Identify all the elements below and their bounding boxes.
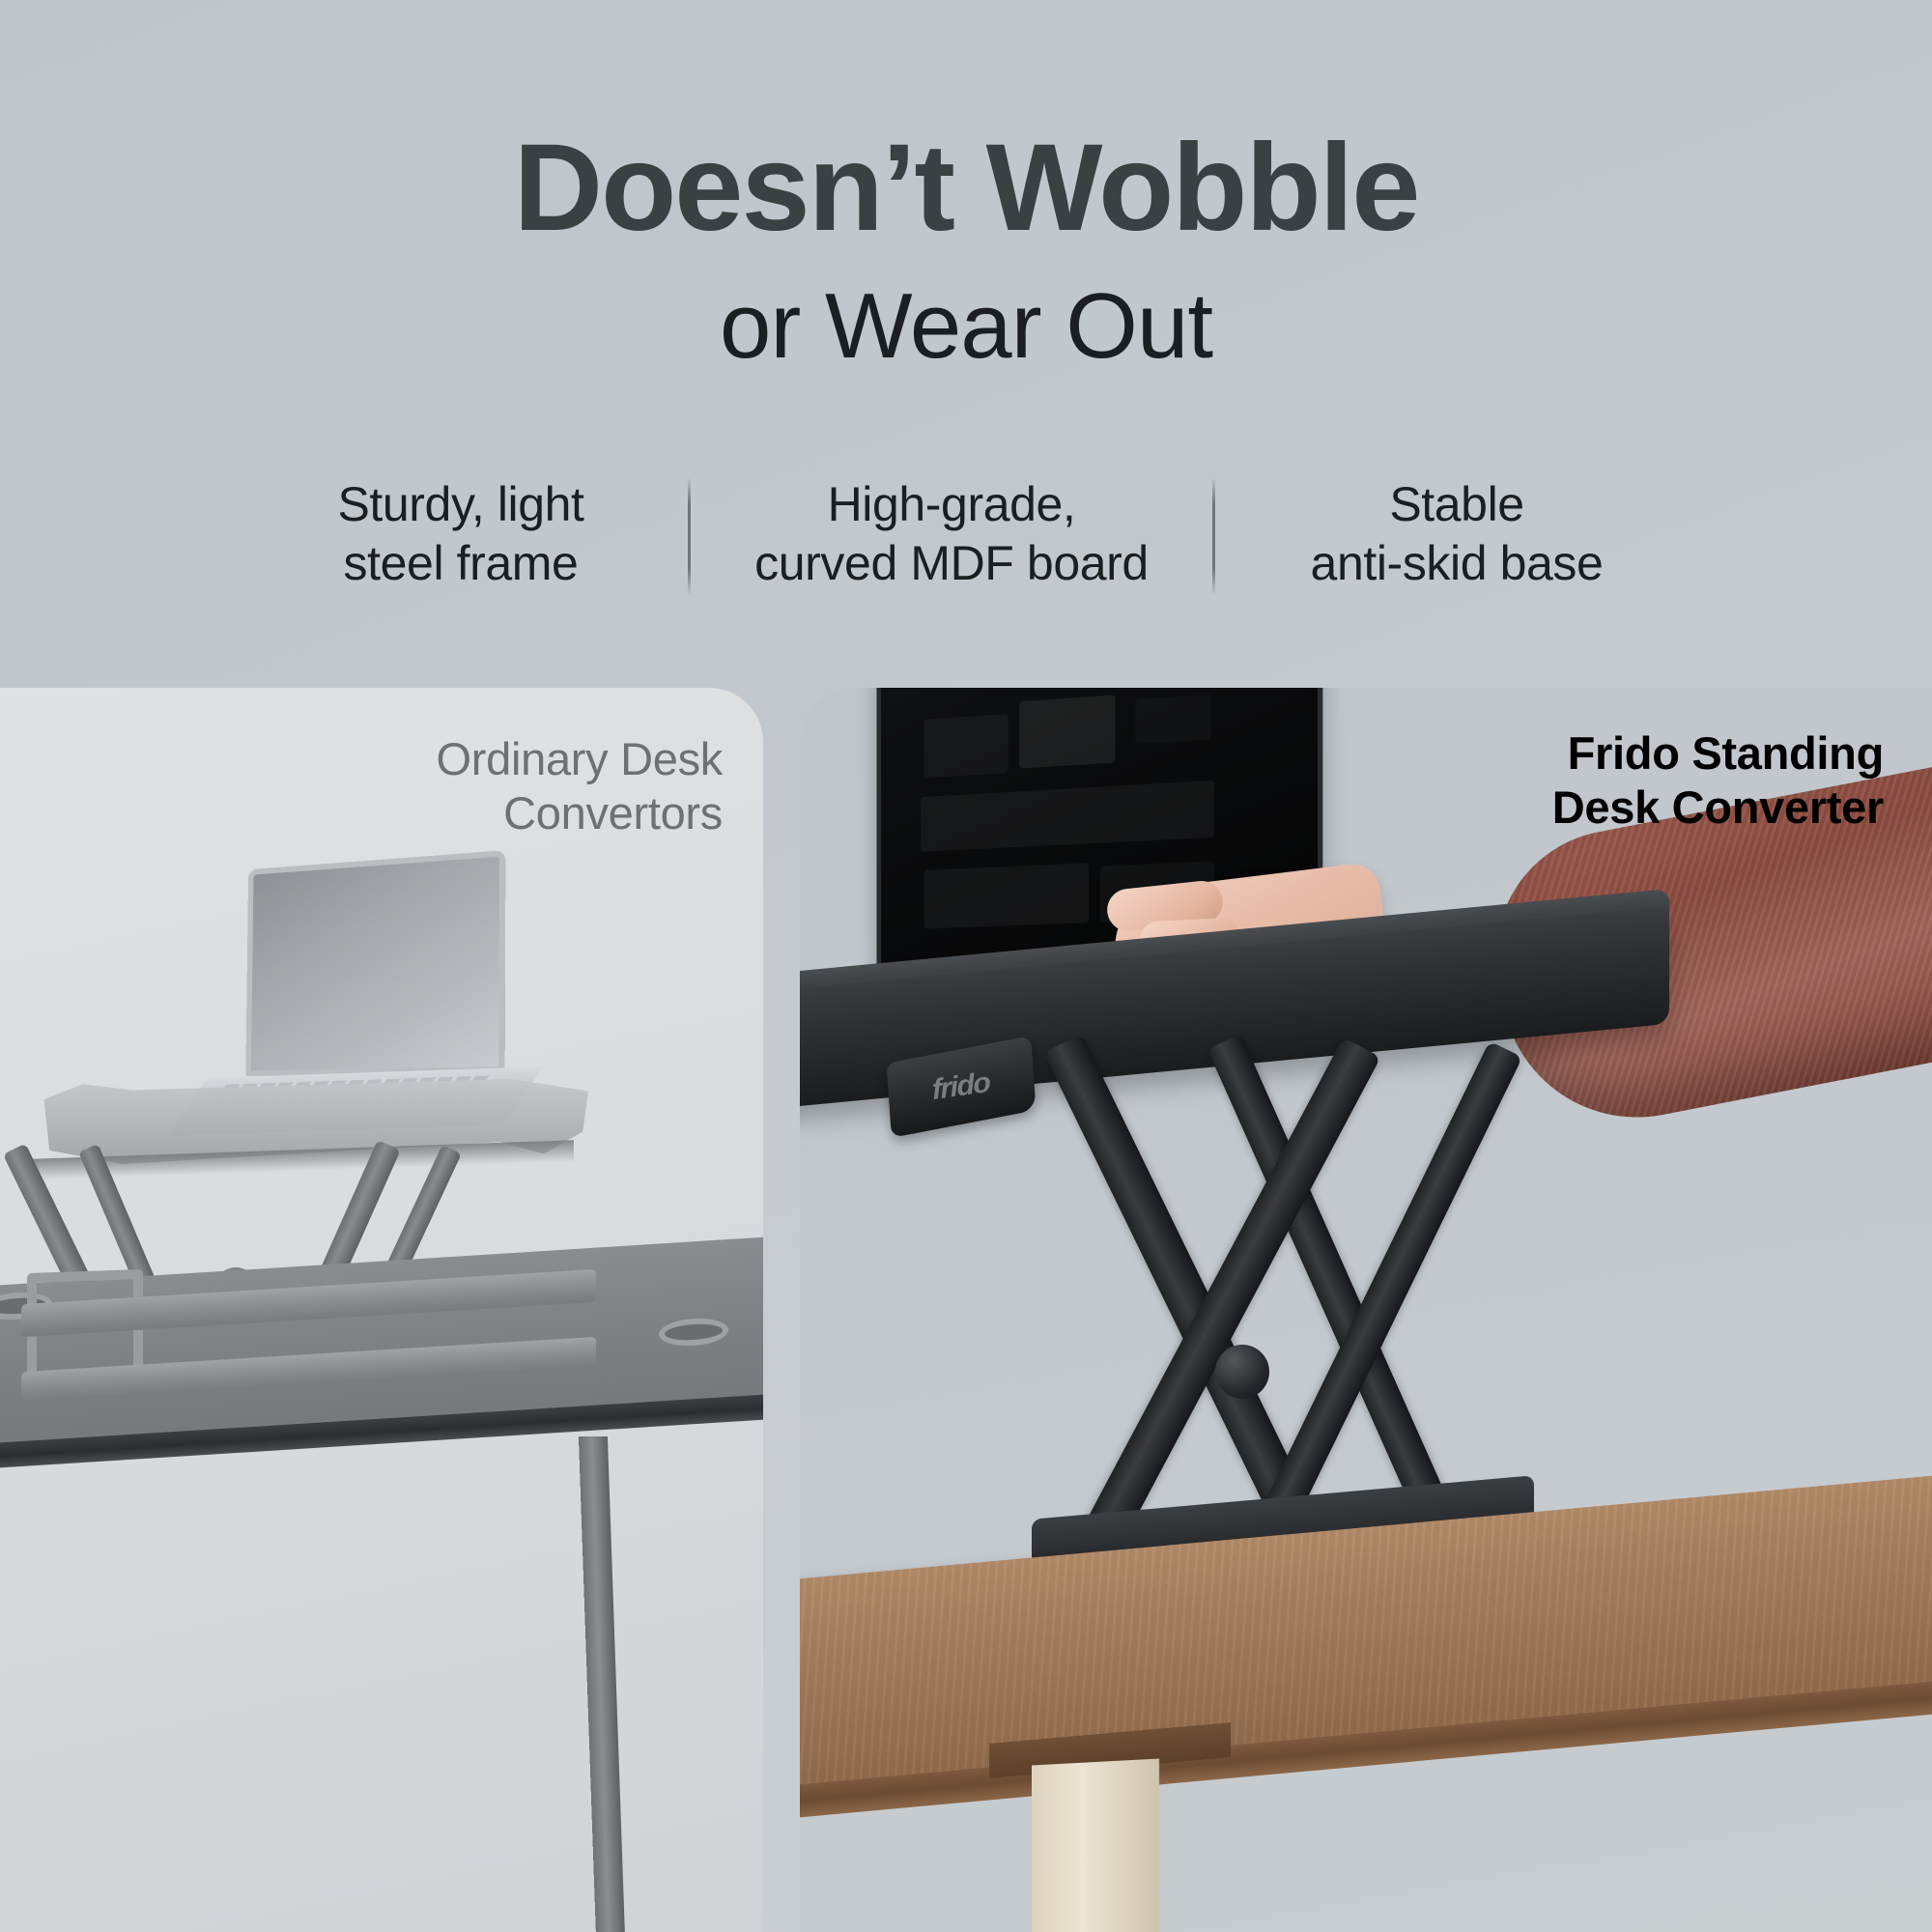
feature-line-1: Stable [1248,475,1665,534]
screen-window [924,863,1089,928]
panel-frido-desk-converter: frido Frido Standing Desk Converter [800,688,1932,1932]
page-title: Doesn’t Wobble [0,126,1932,252]
screen-window [921,781,1214,852]
screen-window [924,714,1009,778]
ordinary-laptop-screen [245,850,505,1076]
ordinary-desk-leg [579,1436,625,1932]
feature-line-2: steel frame [267,534,655,593]
comparison-section: Ordinary Desk Convertors [0,688,1932,1932]
feature-item-mdf-board: High-grade, curved MDF board [691,475,1212,593]
feature-line-2: curved MDF board [724,534,1179,593]
ordinary-converter-photo [0,688,763,1932]
feature-item-anti-skid-base: Stable anti-skid base [1215,475,1698,593]
feature-item-steel-frame: Sturdy, light steel frame [234,475,688,593]
header-section: Doesn’t Wobble or Wear Out Sturdy, light… [0,0,1932,688]
screen-window [1135,695,1210,745]
feature-list: Sturdy, light steel frame High-grade, cu… [135,475,1797,620]
panel-label-ordinary: Ordinary Desk Convertors [437,732,723,841]
frido-x-frame-pivot [1215,1345,1269,1399]
panel-label-frido: Frido Standing Desk Converter [1552,726,1884,836]
feature-line-2: anti-skid base [1248,534,1665,593]
screen-window [1019,695,1115,768]
feature-line-1: Sturdy, light [267,475,655,534]
feature-line-1: High-grade, [724,475,1179,534]
wooden-desk-leg [1032,1759,1159,1932]
panel-ordinary-desk-convertors: Ordinary Desk Convertors [0,688,763,1932]
product-feature-poster: Doesn’t Wobble or Wear Out Sturdy, light… [0,0,1932,1932]
frido-converter-photo: frido [800,688,1932,1932]
page-subtitle: or Wear Out [0,278,1932,376]
frido-brand-logo: frido [931,1066,991,1107]
